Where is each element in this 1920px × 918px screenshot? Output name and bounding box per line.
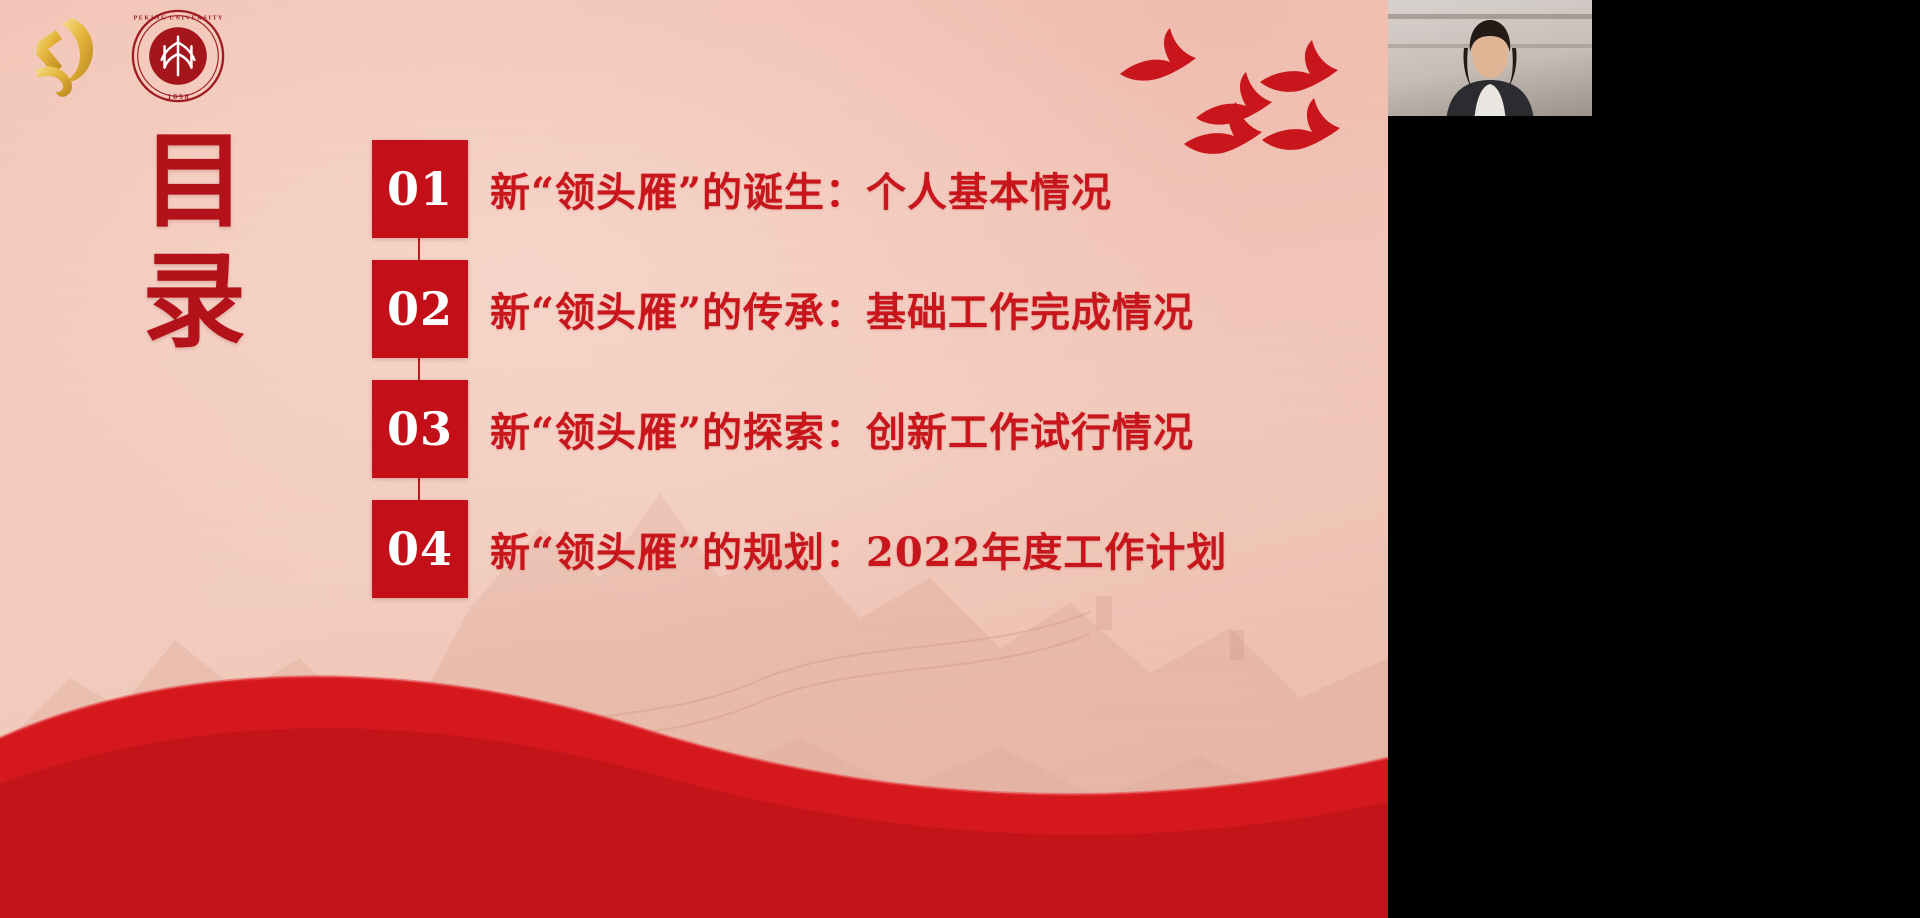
page-title-char-2: 录 bbox=[142, 248, 246, 354]
participant-video-thumbnail[interactable] bbox=[1388, 0, 1592, 116]
toc-item-01[interactable]: 01 新“领头雁”的诞生：个人基本情况 bbox=[372, 140, 1227, 238]
toc-label-04: 新“领头雁”的规划：2022年度工作计划 bbox=[490, 520, 1227, 578]
toc-number-03: 03 bbox=[387, 402, 453, 456]
toc-item-04[interactable]: 04 新“领头雁”的规划：2022年度工作计划 bbox=[372, 500, 1227, 598]
cpc-emblem-icon bbox=[18, 8, 106, 104]
toc-connector-2 bbox=[418, 358, 420, 380]
toc-item-03[interactable]: 03 新“领头雁”的探索：创新工作试行情况 bbox=[372, 380, 1227, 478]
svg-text:1 8 9 8: 1 8 9 8 bbox=[167, 92, 188, 101]
video-conference-panel bbox=[1388, 0, 1920, 918]
svg-text:P E K I N G U N I V E R S I T: P E K I N G U N I V E R S I T Y bbox=[134, 15, 223, 22]
page-title: 目 录 bbox=[142, 128, 246, 354]
toc-number-04: 04 bbox=[387, 522, 453, 576]
peking-university-seal-icon: P E K I N G U N I V E R S I T Y 1 8 9 8 bbox=[130, 8, 226, 104]
toc-list: 01 新“领头雁”的诞生：个人基本情况 02 新“领头雁”的传承：基础工作完成情… bbox=[372, 140, 1227, 598]
toc-number-badge-04[interactable]: 04 bbox=[372, 500, 468, 598]
toc-number-badge-02[interactable]: 02 bbox=[372, 260, 468, 358]
toc-number-02: 02 bbox=[387, 282, 453, 336]
toc-number-badge-01[interactable]: 01 bbox=[372, 140, 468, 238]
toc-item-02[interactable]: 02 新“领头雁”的传承：基础工作完成情况 bbox=[372, 260, 1227, 358]
toc-connector-3 bbox=[418, 478, 420, 500]
toc-connector-1 bbox=[418, 238, 420, 260]
page-title-char-1: 目 bbox=[142, 128, 246, 234]
toc-number-01: 01 bbox=[387, 162, 453, 216]
toc-label-01: 新“领头雁”的诞生：个人基本情况 bbox=[490, 160, 1112, 218]
participant-avatar bbox=[1430, 18, 1550, 116]
presentation-slide[interactable]: P E K I N G U N I V E R S I T Y 1 8 9 8 bbox=[0, 0, 1388, 918]
logo-group: P E K I N G U N I V E R S I T Y 1 8 9 8 bbox=[18, 8, 226, 104]
screen: P E K I N G U N I V E R S I T Y 1 8 9 8 bbox=[0, 0, 1920, 918]
toc-label-02: 新“领头雁”的传承：基础工作完成情况 bbox=[490, 280, 1194, 338]
toc-number-badge-03[interactable]: 03 bbox=[372, 380, 468, 478]
toc-label-03: 新“领头雁”的探索：创新工作试行情况 bbox=[490, 400, 1194, 458]
